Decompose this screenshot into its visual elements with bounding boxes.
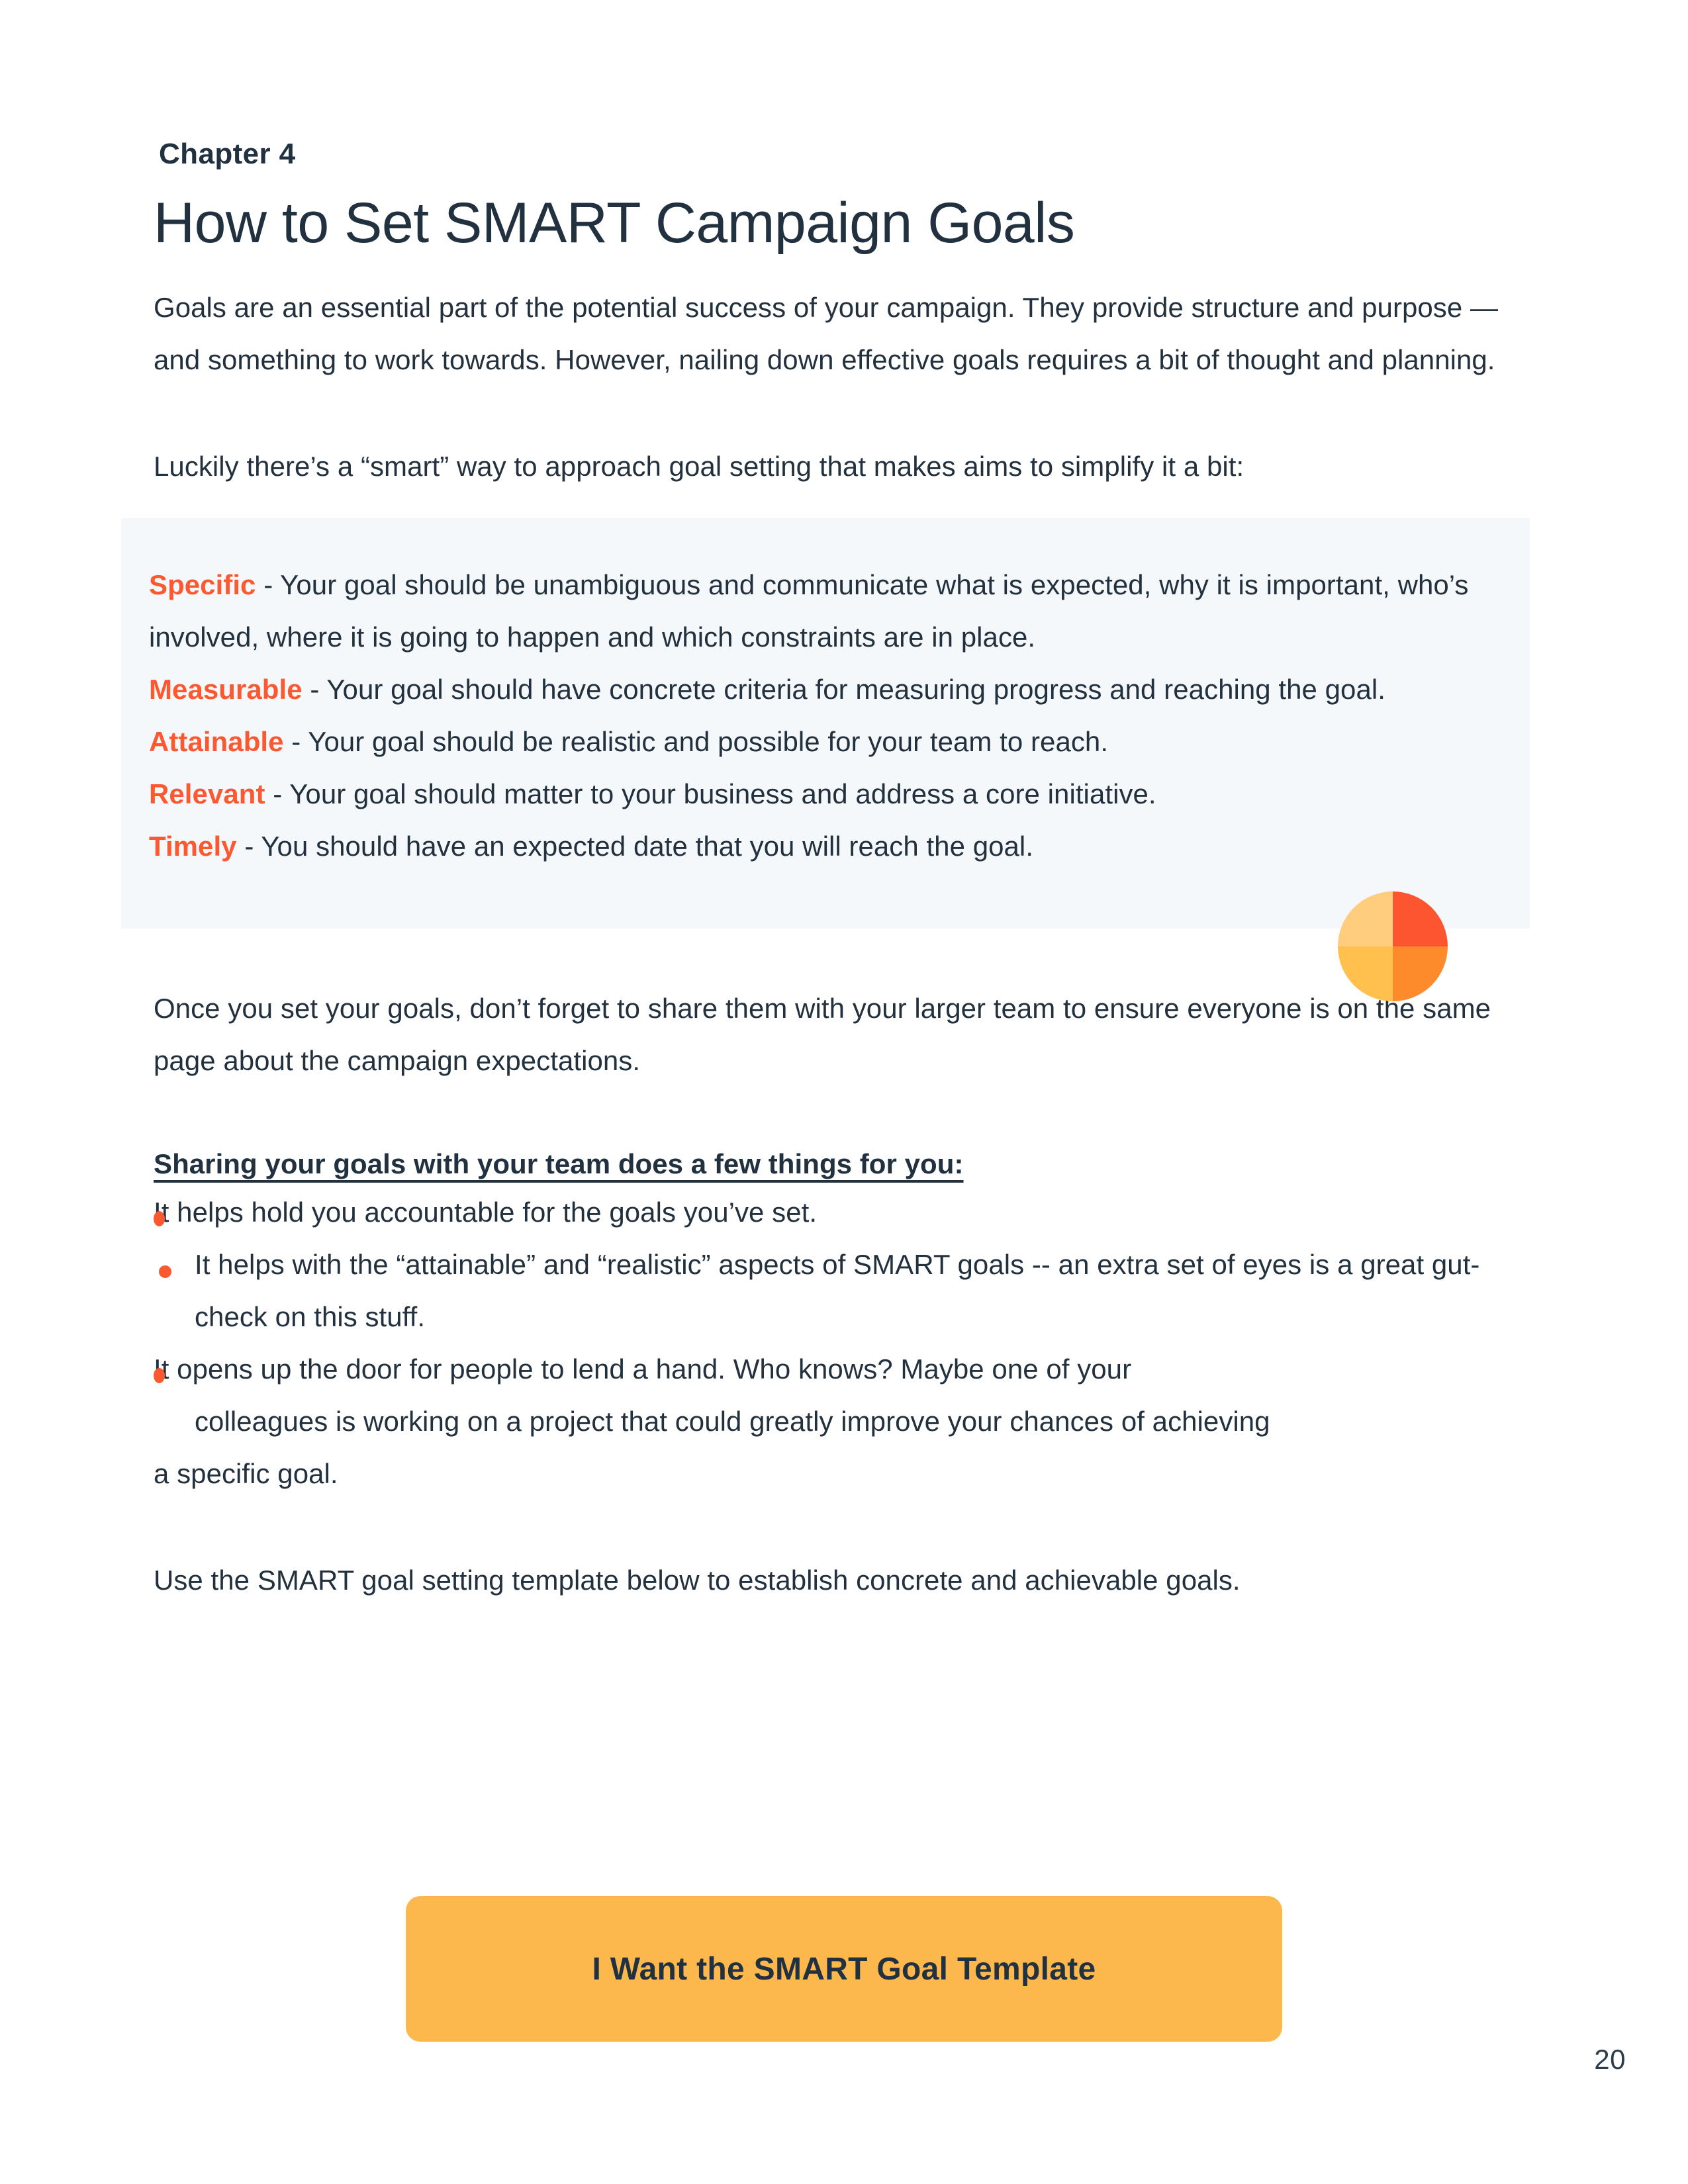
smart-term-attainable: Attainable [149,726,284,757]
smart-item-relevant: Relevant - Your goal should matter to yo… [149,768,1490,821]
pie-quadrant-top-left [1338,891,1393,946]
page-number: 20 [1594,2044,1626,2075]
smart-callout-box: Specific - Your goal should be unambiguo… [121,518,1530,929]
chapter-label: Chapter 4 [154,138,1544,171]
smart-term-specific: Specific [149,569,256,600]
closing-paragraph: Use the SMART goal setting template belo… [154,1555,1544,1607]
smart-term-measurable: Measurable [149,674,303,705]
list-item-continuation-indented: colleagues is working on a project that … [154,1396,1544,1448]
pie-quadrant-bottom-left [1338,946,1393,1001]
list-item-text: It helps with the “attainable” and “real… [195,1249,1479,1332]
paragraph-spacer [154,1500,1544,1555]
intro-paragraph-2: Luckily there’s a “smart” way to approac… [154,441,1544,493]
smart-item-specific: Specific - Your goal should be unambiguo… [149,559,1490,664]
list-item: It helps with the “attainable” and “real… [154,1239,1544,1343]
smart-description-measurable: - Your goal should have concrete criteri… [303,674,1385,705]
bullet-dot-icon [154,1211,165,1226]
bullet-dot-icon [159,1265,171,1278]
smart-item-attainable: Attainable - Your goal should be realist… [149,716,1490,768]
smart-term-timely: Timely [149,831,237,862]
smart-description-relevant: - Your goal should matter to your busine… [265,778,1156,809]
page-title: How to Set SMART Campaign Goals [154,193,1544,253]
list-item-text: It helps hold you accountable for the go… [154,1197,817,1228]
smart-description-timely: - You should have an expected date that … [237,831,1033,862]
list-item-continuation-flush: a specific goal. [154,1448,1544,1500]
smart-goal-template-button[interactable]: I Want the SMART Goal Template [406,1896,1282,2042]
smart-description-specific: - Your goal should be unambiguous and co… [149,569,1468,653]
sharing-heading: Sharing your goals with your team does a… [154,1142,1544,1187]
list-item: It opens up the door for people to lend … [154,1343,1544,1500]
smart-item-timely: Timely - You should have an expected dat… [149,821,1490,873]
bullet-dot-icon [154,1368,165,1383]
cta-container: I Want the SMART Goal Template [406,1896,1282,2042]
smart-list: Specific - Your goal should be unambiguo… [149,559,1490,873]
list-item-text: It opens up the door for people to lend … [154,1353,1131,1385]
pie-quadrant-bottom-right [1393,946,1448,1001]
paragraph-spacer [154,387,1544,441]
smart-term-relevant: Relevant [149,778,265,809]
pie-chart-icon [1338,891,1448,1001]
paragraph-spacer [154,1087,1544,1142]
page-content: Chapter 4 How to Set SMART Campaign Goal… [154,138,1544,1606]
sharing-bullet-list: It helps hold you accountable for the go… [154,1187,1544,1500]
smart-item-measurable: Measurable - Your goal should have concr… [149,664,1490,716]
list-item: It helps hold you accountable for the go… [154,1187,1544,1239]
smart-description-attainable: - Your goal should be realistic and poss… [284,726,1109,757]
paragraph-spacer [154,929,1544,983]
pie-quadrant-top-right [1393,891,1448,946]
intro-paragraph-1: Goals are an essential part of the poten… [154,282,1544,387]
ebook-page: Chapter 4 How to Set SMART Campaign Goal… [0,0,1688,2184]
after-box-paragraph: Once you set your goals, don’t forget to… [154,983,1544,1087]
